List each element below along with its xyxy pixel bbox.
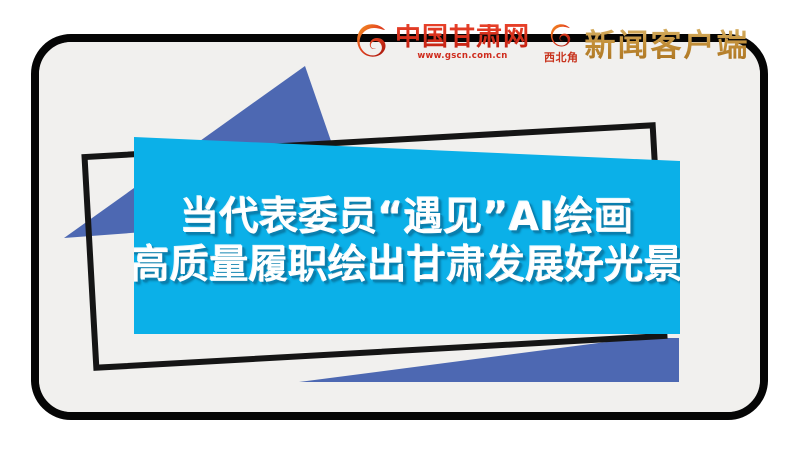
poster-root: 当代表委员“遇见”AI绘画 高质量履职绘出甘肃发展好光景 bbox=[0, 0, 800, 450]
headline-banner: 当代表委员“遇见”AI绘画 高质量履职绘出甘肃发展好光景 bbox=[134, 134, 680, 334]
logo-news-client-name: 新闻客户端 bbox=[585, 20, 750, 65]
poster-canvas: 当代表委员“遇见”AI绘画 高质量履职绘出甘肃发展好光景 bbox=[39, 42, 760, 412]
header-logos: 中国甘肃网 www.gscn.com.cn bbox=[355, 16, 750, 68]
red-swirl-icon-small bbox=[549, 22, 573, 51]
logo-gansu-net-url: www.gscn.com.cn bbox=[417, 52, 507, 61]
headline-line-1: 当代表委员“遇见”AI绘画 bbox=[180, 197, 633, 239]
logo-xibeijiao-block: 西北角 bbox=[544, 22, 579, 63]
headline-banner-inner: 当代表委员“遇见”AI绘画 高质量履职绘出甘肃发展好光景 bbox=[134, 134, 680, 334]
logo-gansu-net-name: 中国甘肃网 bbox=[395, 24, 530, 50]
logo-gansu-net[interactable]: 中国甘肃网 www.gscn.com.cn bbox=[355, 21, 530, 63]
logo-news-client[interactable]: 西北角 新闻客户端 bbox=[544, 20, 750, 65]
red-swirl-icon bbox=[355, 21, 389, 63]
logo-xibeijiao-name: 西北角 bbox=[544, 52, 579, 63]
headline-line-2: 高质量履职绘出甘肃发展好光景 bbox=[131, 245, 684, 287]
logo-gansu-net-textblock: 中国甘肃网 www.gscn.com.cn bbox=[395, 24, 530, 61]
